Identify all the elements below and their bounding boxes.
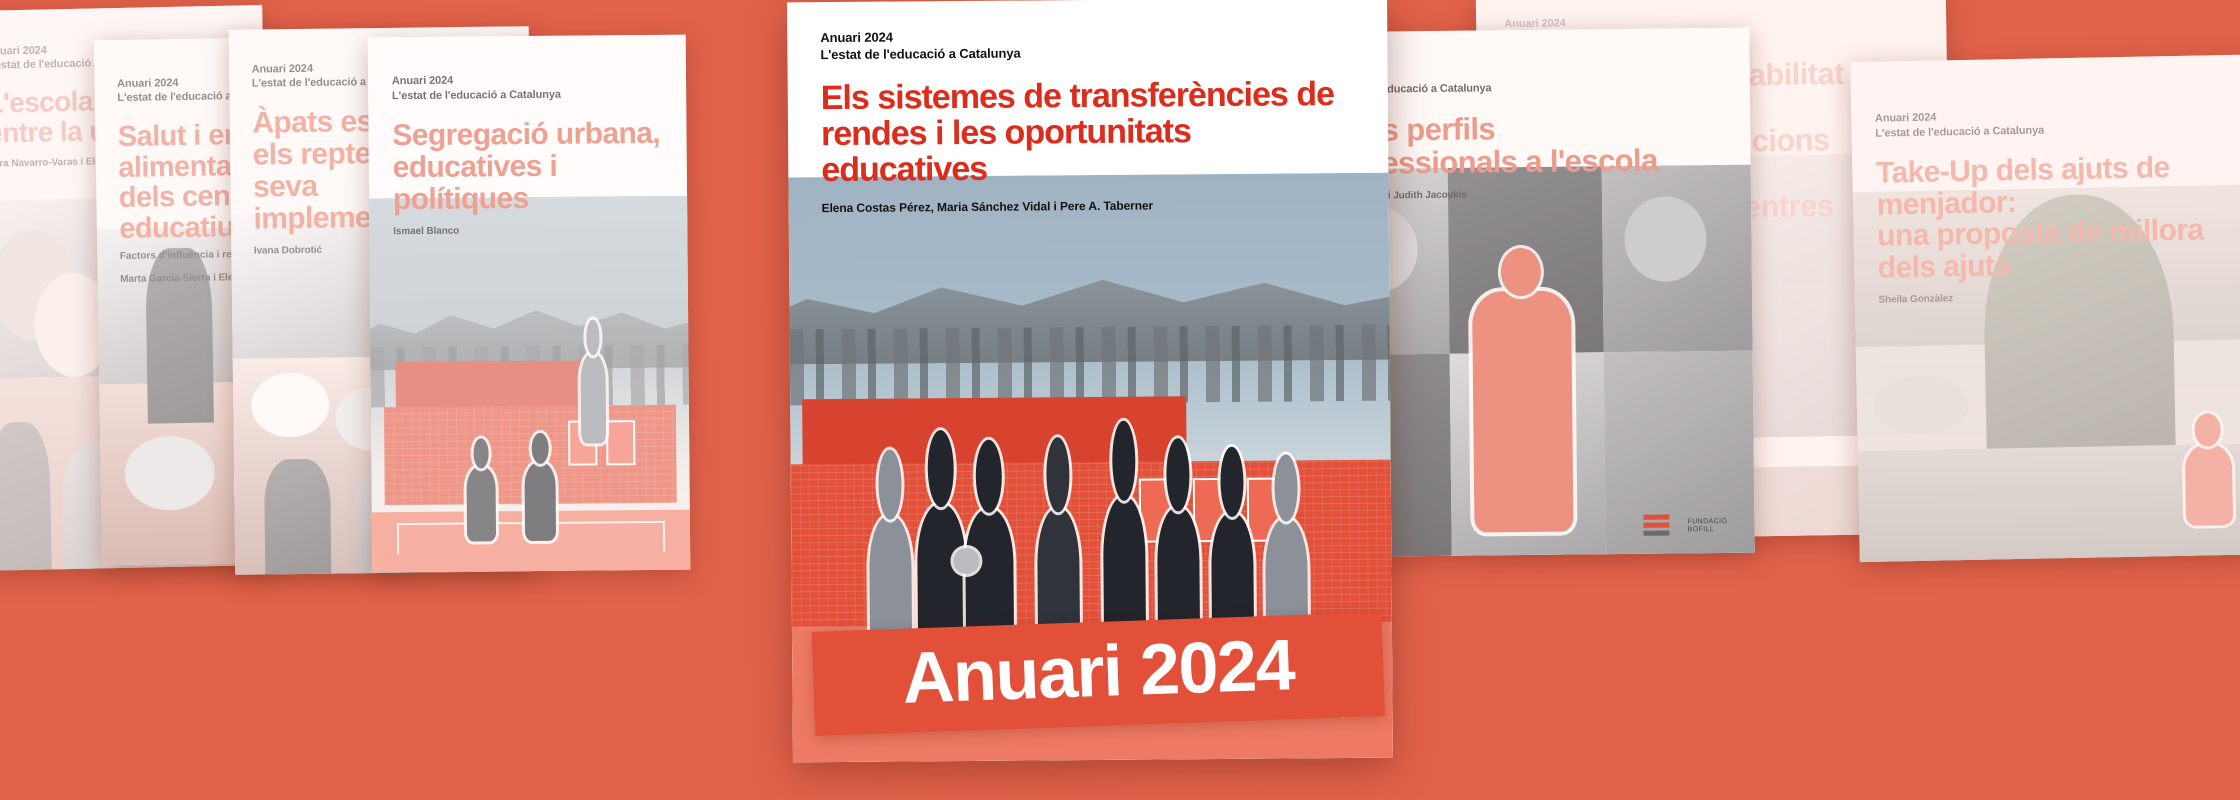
cover-authors: Ismael Blanco [393,223,668,239]
cover-title: Segregació urbana, educatives i polítiqu… [392,118,668,216]
cover-kicker: Anuari 2024 L'estat de l'educació a Cata… [820,24,1363,63]
cover-artwork [369,195,690,572]
cover-title: Els sistemes de transferències de rendes… [821,76,1365,188]
anuari-banner-label: Anuari 2024 [901,629,1295,715]
cover-kicker: Anuari 2024 L'estat de l'educació a Cata… [392,72,667,104]
logo-bars-icon [1643,514,1669,535]
logo-text: FUNDACIÓ BOFILL [1687,518,1727,535]
cover-takeup-menjador[interactable]: Anuari 2024 L'estat de l'educació a Cata… [1850,54,2240,562]
cover-text-block: Anuari 2024 L'estat de l'educació a Cata… [392,72,669,239]
cover-text-block: Anuari 2024 L'estat de l'educació a Cata… [1875,104,2240,307]
cover-segregacio[interactable]: Anuari 2024 L'estat de l'educació a Cata… [368,35,691,573]
publisher-logo: FUNDACIÓ BOFILL [1643,514,1727,536]
cover-text-block: Anuari 2024 L'estat de l'educació a Cata… [820,24,1364,216]
cover-kicker: Anuari 2024 L'estat de l'educació a Cata… [1875,104,2240,141]
covers-collage: Anuari 2024 L'estat de l'educació a Cata… [0,0,2240,800]
anuari-banner: Anuari 2024 [812,612,1385,736]
cover-hero-transferencies[interactable]: Anuari 2024 L'estat de l'educació a Cata… [787,0,1393,762]
cover-title: Take-Up dels ajuts de menjador: una prop… [1876,150,2240,284]
